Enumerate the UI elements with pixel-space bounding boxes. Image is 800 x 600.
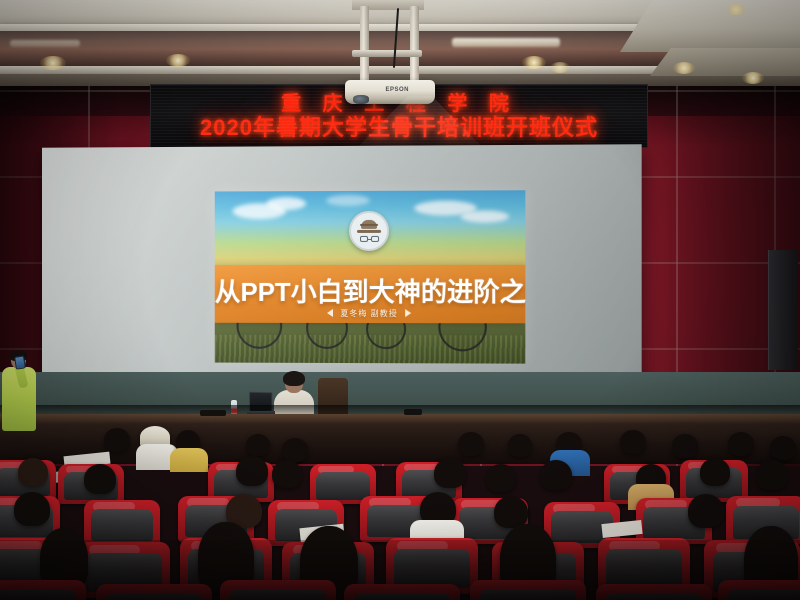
seat-highlight: [277, 502, 319, 510]
seat-highlight: [0, 541, 42, 551]
auditorium-seat: [718, 580, 800, 600]
auditorium-seat: [470, 580, 586, 600]
auditorium-seat: [84, 500, 160, 546]
projector: EPSON: [345, 80, 435, 104]
audience-head: [486, 464, 516, 492]
projector-crossbar: [352, 50, 422, 57]
desk-object: [200, 410, 226, 416]
projector-pole: [410, 6, 419, 84]
glasses-lens-right: [371, 236, 379, 242]
led-banner-line2: 2020年暑期大学生骨干培训班开班仪式: [200, 117, 598, 139]
audience-head: [272, 460, 302, 488]
seat-highlight: [93, 502, 135, 510]
seat-highlight: [609, 541, 660, 551]
audience-head: [508, 434, 532, 457]
audience-head: [236, 456, 268, 486]
hat-crown-shape: [361, 220, 377, 229]
projector-lens-icon: [353, 95, 369, 104]
audience-head: [494, 496, 528, 528]
cloud-shape: [266, 197, 306, 210]
presenter-hair: [283, 371, 305, 386]
auditorium-seat: [96, 584, 212, 600]
seat-highlight: [736, 498, 780, 507]
audience-head: [700, 458, 730, 486]
audience-head: [458, 432, 484, 456]
seat-highlight: [89, 545, 140, 555]
audience-head: [672, 434, 698, 458]
cloud-shape: [461, 210, 510, 222]
downlight-icon: [166, 54, 190, 67]
audience-head: [104, 428, 130, 452]
auditorium-seat: [220, 580, 336, 600]
right-triangle-icon: [405, 310, 411, 318]
ceiling-strip-light: [10, 40, 80, 47]
projector-brand-label: EPSON: [385, 87, 409, 93]
audience-head: [84, 464, 116, 494]
audience-head: [434, 458, 466, 488]
auditorium-seat: [344, 584, 460, 600]
audience-head: [282, 438, 308, 462]
slide-title: 从PPT小白到大神的进阶之路: [215, 272, 526, 309]
presentation-slide: 从PPT小白到大神的进阶之路 夏冬梅 副教授: [215, 190, 526, 363]
slide-subtitle-row: 夏冬梅 副教授: [215, 308, 526, 319]
slide-subtitle: 夏冬梅 副教授: [340, 308, 397, 319]
downlight-icon: [673, 62, 695, 74]
audience-head: [770, 436, 796, 460]
downlight-icon: [550, 62, 570, 73]
downlight-icon: [742, 72, 764, 84]
downlight-icon: [522, 56, 546, 69]
audience-head: [620, 430, 646, 454]
wall-speaker: [768, 250, 798, 370]
audience-head: [18, 458, 48, 486]
seat-highlight: [187, 498, 229, 506]
hat-brim-shape: [357, 230, 381, 234]
glasses-lens-left: [360, 236, 368, 242]
left-triangle-icon: [327, 309, 333, 317]
auditorium-photo: 重 庆 工 程 学 院 2020年暑期大学生骨干培训班开班仪式 EPSON: [0, 0, 800, 600]
smartphone-icon: [14, 355, 26, 369]
audience-head: [728, 432, 754, 456]
audience-head: [540, 460, 572, 490]
desk-object: [404, 409, 422, 415]
audience-head: [246, 434, 270, 456]
downlight-icon: [40, 56, 66, 70]
seat-highlight: [553, 504, 595, 512]
projector-pole: [360, 6, 369, 84]
seat-highlight: [318, 466, 354, 473]
glasses-shape: [360, 236, 379, 242]
downlight-icon: [726, 4, 746, 15]
audience-head: [756, 460, 788, 490]
seat-highlight: [645, 500, 687, 508]
seat-highlight: [369, 498, 411, 506]
ceiling-step-right-lower: [650, 48, 800, 76]
hat-glasses-icon: [349, 211, 389, 251]
auditorium-seat: [596, 584, 712, 600]
audience-seating: [0, 430, 800, 600]
seat-highlight: [397, 541, 448, 551]
audience-head: [688, 494, 724, 528]
audience-torso: [170, 448, 208, 472]
auditorium-seat: [0, 580, 86, 600]
audience-head: [14, 492, 50, 526]
ceiling-strip-light: [452, 38, 560, 47]
